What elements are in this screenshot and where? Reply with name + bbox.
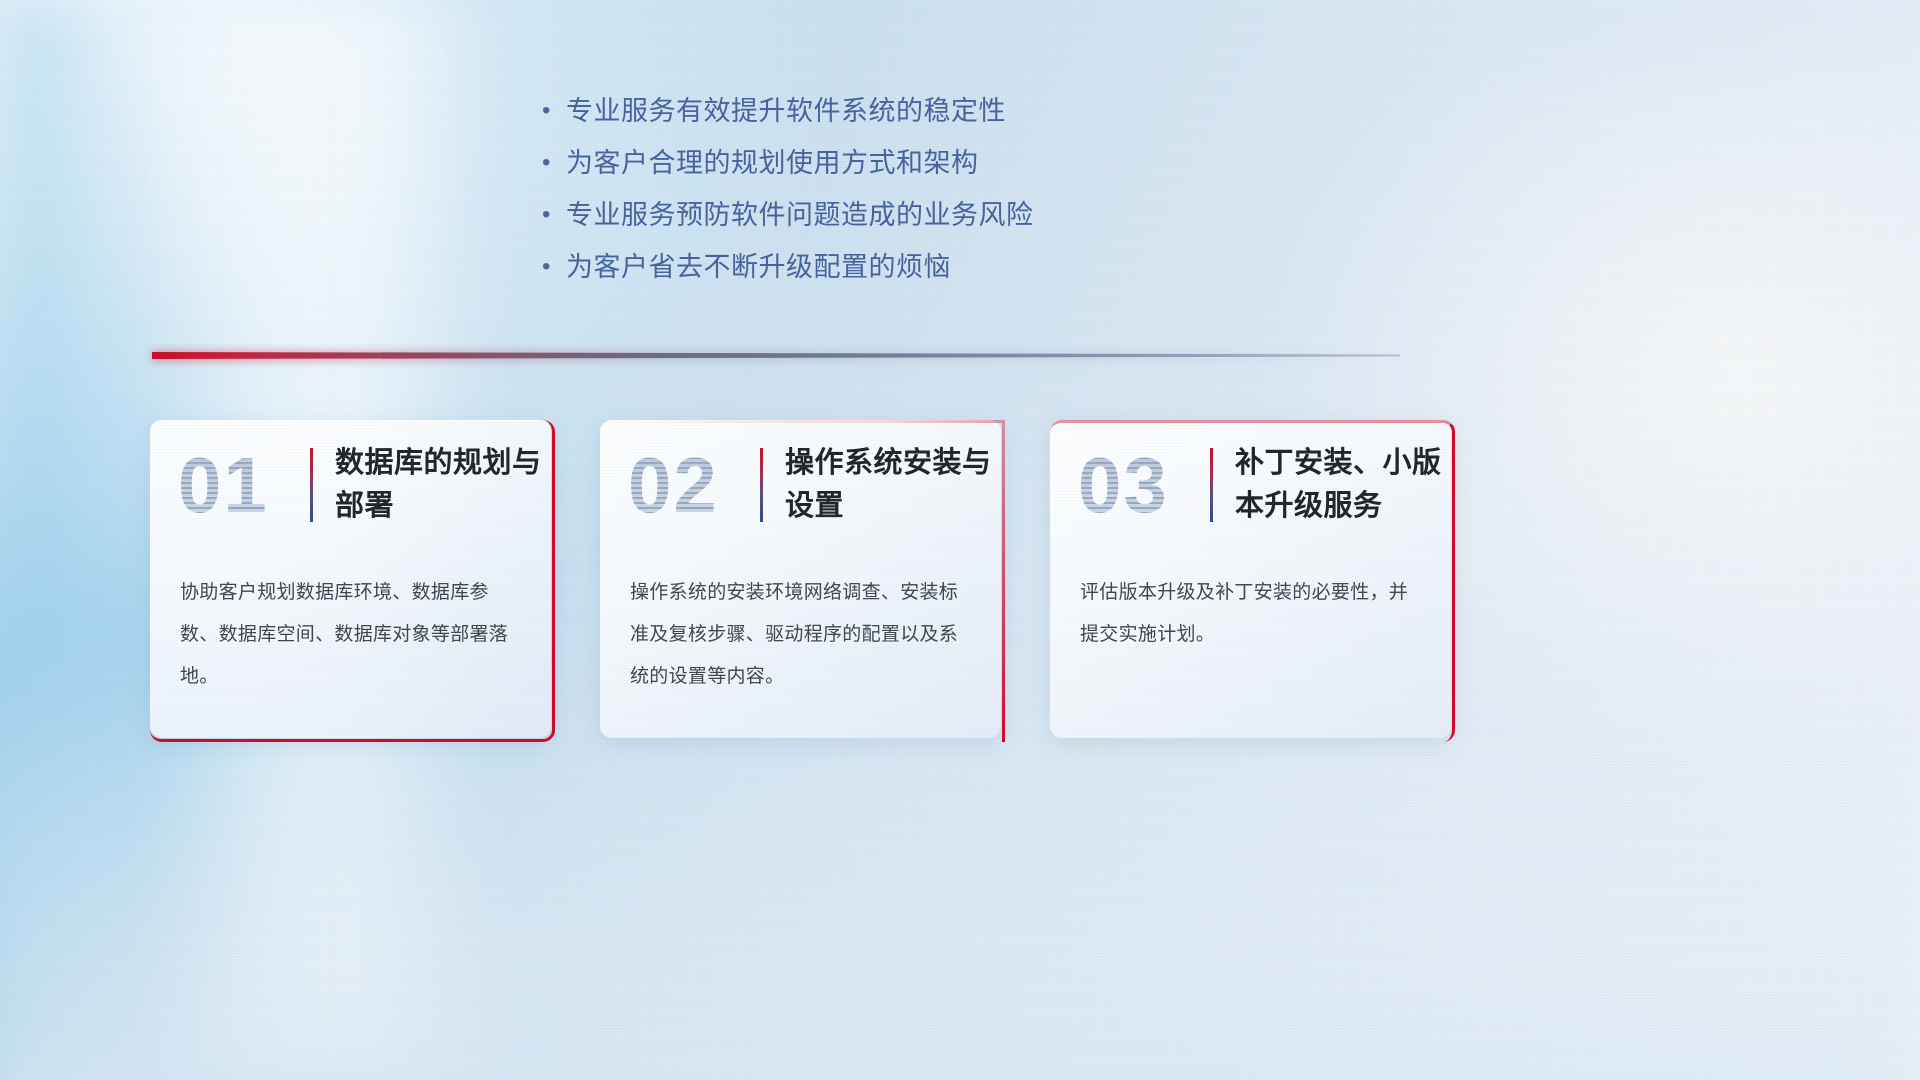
- bullet-text: 专业服务预防软件问题造成的业务风险: [566, 196, 1034, 234]
- list-item: • 为客户省去不断升级配置的烦恼: [536, 248, 1396, 300]
- bullet-text: 为客户合理的规划使用方式和架构: [566, 144, 979, 182]
- card-red-accent-border: [150, 420, 555, 742]
- benefits-bullet-list: • 专业服务有效提升软件系统的稳定性 • 为客户合理的规划使用方式和架构 • 专…: [536, 92, 1396, 300]
- bullet-point-icon: •: [536, 196, 566, 234]
- list-item: • 为客户合理的规划使用方式和架构: [536, 144, 1396, 196]
- service-card[interactable]: 03 补丁安装、小版本升级服务 评估版本升级及补丁安装的必要性，并提交实施计划。: [1050, 420, 1455, 742]
- section-divider: [152, 348, 1400, 366]
- bullet-text: 为客户省去不断升级配置的烦恼: [566, 248, 951, 286]
- list-item: • 专业服务有效提升软件系统的稳定性: [536, 92, 1396, 144]
- bullet-text: 专业服务有效提升软件系统的稳定性: [566, 92, 1006, 130]
- bullet-point-icon: •: [536, 144, 566, 182]
- card-red-accent-border: [600, 420, 1005, 742]
- bullet-point-icon: •: [536, 248, 566, 286]
- service-card-group: 01 数据库的规划与部署 协助客户规划数据库环境、数据库参数、数据库空间、数据库…: [150, 420, 1600, 742]
- card-red-accent-border: [1050, 420, 1455, 742]
- service-card[interactable]: 02 操作系统安装与设置 操作系统的安装环境网络调查、安装标准及复核步骤、驱动程…: [600, 420, 1005, 742]
- list-item: • 专业服务预防软件问题造成的业务风险: [536, 196, 1396, 248]
- service-card[interactable]: 01 数据库的规划与部署 协助客户规划数据库环境、数据库参数、数据库空间、数据库…: [150, 420, 555, 742]
- bullet-point-icon: •: [536, 92, 566, 130]
